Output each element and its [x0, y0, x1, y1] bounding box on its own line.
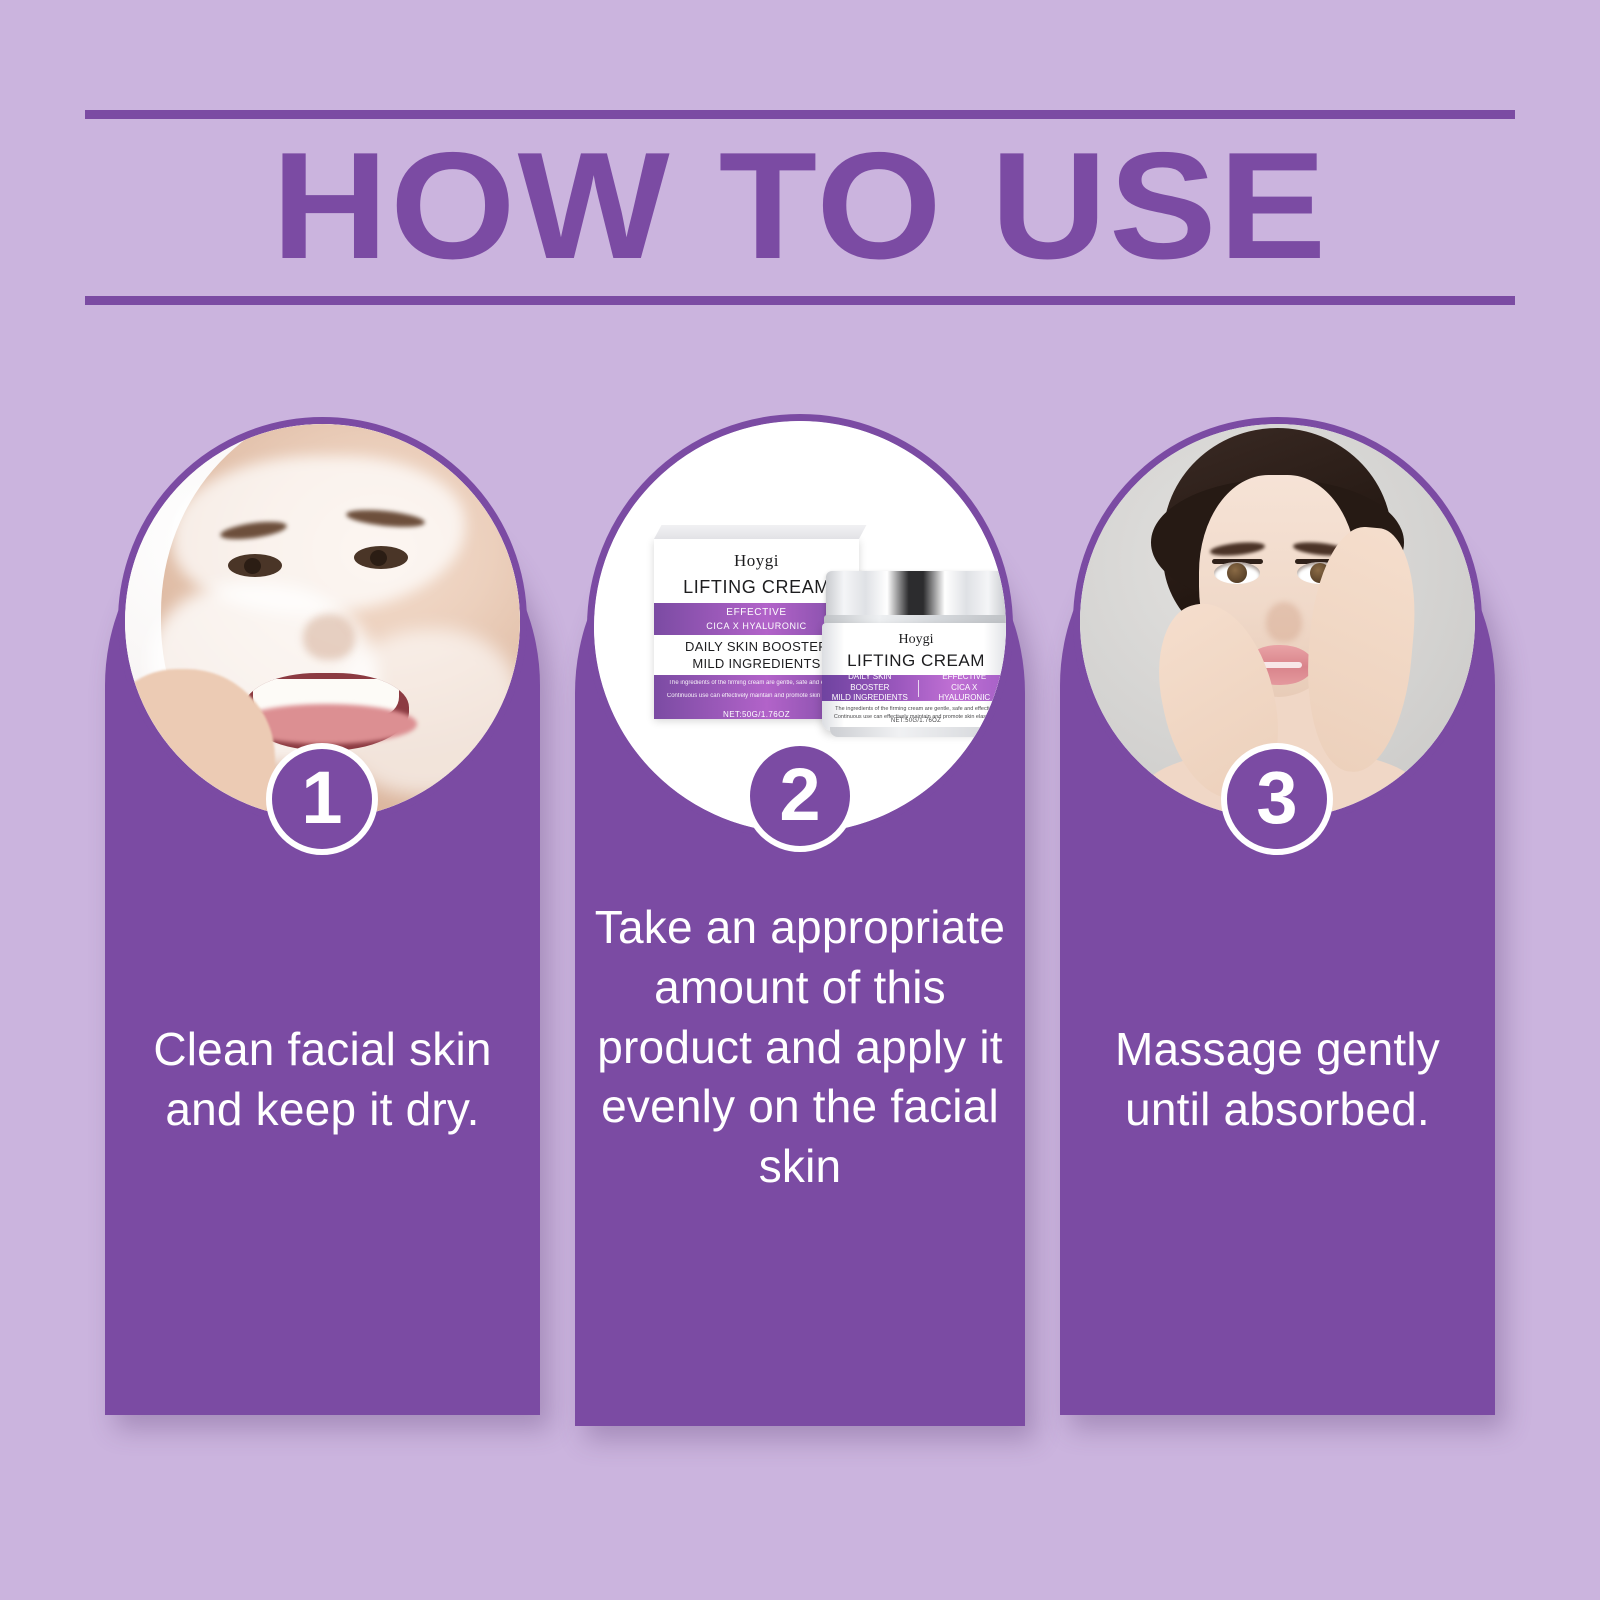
carton-top-face: [654, 525, 866, 539]
step-badge-1: 1: [266, 743, 378, 855]
jar-description-line-1: The ingredients of the firming cream are…: [822, 705, 1006, 713]
jar-net-weight: NET:50G/1.76OZ: [822, 718, 1006, 724]
jar-band-right-line-2: CICA X HYALURONIC: [926, 683, 1003, 705]
jar-brand: Hoygi: [822, 632, 1006, 648]
jar-title: LIFTING CREAM: [822, 651, 1006, 671]
step-card-2-body: Hoygi LIFTING CREAM EFFECTIVE CICA X HYA…: [575, 468, 1025, 1426]
product-jar: Hoygi LIFTING CREAM DAILY SKIN BOOSTER M…: [822, 571, 1006, 739]
step-badge-3: 3: [1221, 743, 1333, 855]
carton-brand: Hoygi: [654, 551, 859, 571]
step-card-1-body: 1 Clean facial skin and keep it dry.: [105, 468, 540, 1415]
jar-base: [830, 727, 1002, 737]
jar-band-right-line-1: EFFECTIVE: [926, 672, 1003, 683]
step-card-2[interactable]: Hoygi LIFTING CREAM EFFECTIVE CICA X HYA…: [575, 468, 1025, 1426]
jar-lid: [826, 571, 1006, 619]
step-caption-3: Massage gently until absorbed.: [1060, 1020, 1495, 1140]
step-card-3-body: 3 Massage gently until absorbed.: [1060, 468, 1495, 1415]
step-card-1[interactable]: 1 Clean facial skin and keep it dry.: [105, 468, 540, 1415]
jar-band-right: EFFECTIVE CICA X HYALURONIC: [919, 672, 1006, 704]
step-badge-2: 2: [744, 740, 856, 852]
step-number-2: 2: [779, 753, 820, 836]
step-number-3: 3: [1256, 756, 1297, 839]
jar-band-left: DAILY SKIN BOOSTER MILD INGREDIENTS: [822, 672, 918, 704]
jar-band-left-line-1: DAILY SKIN BOOSTER: [829, 672, 911, 694]
step-caption-1: Clean facial skin and keep it dry.: [105, 1020, 540, 1140]
step-card-3[interactable]: 3 Massage gently until absorbed.: [1060, 468, 1495, 1415]
step-number-1: 1: [301, 756, 342, 839]
jar-accent-band: DAILY SKIN BOOSTER MILD INGREDIENTS EFFE…: [822, 675, 1006, 701]
jar-band-left-line-2: MILD INGREDIENTS: [829, 693, 911, 704]
steps-container: 1 Clean facial skin and keep it dry. Hoy…: [0, 0, 1600, 1600]
jar-body: Hoygi LIFTING CREAM DAILY SKIN BOOSTER M…: [822, 623, 1006, 731]
step-caption-2: Take an appropriate amount of this produ…: [575, 898, 1025, 1197]
